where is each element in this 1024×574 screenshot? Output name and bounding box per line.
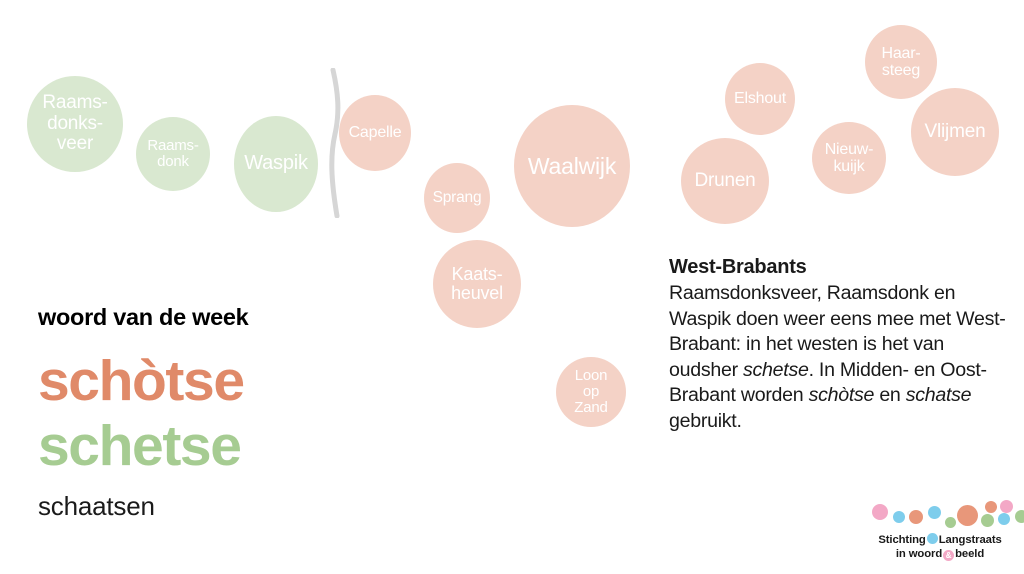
logo-line2-before: in woord — [896, 548, 942, 560]
bubble-raamsdonk[interactable]: Raams-donk — [136, 117, 210, 191]
bubble-waalwijk[interactable]: Waalwijk — [514, 105, 630, 227]
bubble-drunen[interactable]: Drunen — [681, 138, 769, 224]
bubble-elshout[interactable]: Elshout — [725, 63, 795, 135]
description-body: Raamsdonksveer, Raamsdonk en Waspik doen… — [669, 281, 1009, 434]
bubble-label: LoonopZand — [572, 368, 609, 417]
bubble-label: Waspik — [242, 153, 310, 175]
dialect-word-primary: schòtse — [38, 352, 398, 412]
logo-ampersand-dot-icon: & — [943, 550, 954, 561]
logo-line2-after: beeld — [955, 548, 984, 560]
word-of-the-week-block: woord van de week schòtse schetse schaat… — [38, 303, 398, 522]
word-of-the-week-title: woord van de week — [38, 303, 398, 331]
bubble-label: Capelle — [347, 124, 404, 141]
bubble-label: Raams-donks-veer — [40, 93, 109, 155]
logo-line1-before: Stichting — [878, 534, 925, 546]
bubble-haarsteeg[interactable]: Haar-steeg — [865, 25, 937, 99]
logo-line1-after: Langstraats — [939, 534, 1002, 546]
bubble-vlijmen[interactable]: Vlijmen — [911, 88, 999, 176]
description-heading: West-Brabants — [669, 255, 1009, 280]
description-block: West-Brabants Raamsdonksveer, Raamsdonk … — [669, 255, 1009, 434]
bubble-label: Vlijmen — [923, 122, 988, 143]
bubble-label: Drunen — [692, 171, 757, 192]
bubble-label: Elshout — [732, 90, 788, 107]
organisation-logo[interactable]: StichtingLangstraats in woord&beeld — [866, 500, 1014, 566]
logo-dot-3 — [928, 506, 941, 519]
bubble-sprang[interactable]: Sprang — [424, 163, 490, 233]
bubble-label: Haar-steeg — [879, 45, 922, 80]
logo-dots-icon — [866, 500, 1014, 534]
slide-canvas: Raams-donks-veer Raams-donk Waspik Capel… — [0, 0, 1024, 574]
bubble-waspik[interactable]: Waspik — [234, 116, 318, 212]
bubble-loon-op-zand[interactable]: LoonopZand — [556, 357, 626, 427]
logo-dot-9 — [1000, 500, 1013, 513]
bubble-label: Sprang — [431, 190, 484, 207]
logo-dot-4 — [945, 517, 956, 528]
wavy-divider-line-icon — [322, 68, 352, 218]
bubble-label: Nieuw-kuijk — [823, 141, 876, 176]
standard-dutch-translation: schaatsen — [38, 491, 398, 522]
dialect-word-secondary: schetse — [38, 417, 398, 477]
logo-dot-6 — [981, 514, 994, 527]
logo-dot-1 — [893, 511, 905, 523]
logo-dot-7 — [985, 501, 997, 513]
logo-dot-2 — [909, 510, 923, 524]
bubble-label: Waalwijk — [526, 154, 618, 179]
bubble-nieuwkuijk[interactable]: Nieuw-kuijk — [812, 122, 886, 194]
logo-dot-8 — [998, 513, 1010, 525]
bubble-raamsdonksveer[interactable]: Raams-donks-veer — [27, 76, 123, 172]
logo-dot-0 — [872, 504, 888, 520]
bubble-label: Kaats-heuvel — [449, 265, 505, 304]
logo-wordmark: StichtingLangstraats in woord&beeld — [866, 533, 1014, 562]
bubble-kaatsheuvel[interactable]: Kaats-heuvel — [433, 240, 521, 328]
logo-dot-10 — [1015, 510, 1024, 523]
logo-blue-dot-icon — [927, 533, 938, 544]
bubble-label: Raams-donk — [145, 138, 200, 170]
logo-dot-5 — [957, 505, 978, 526]
